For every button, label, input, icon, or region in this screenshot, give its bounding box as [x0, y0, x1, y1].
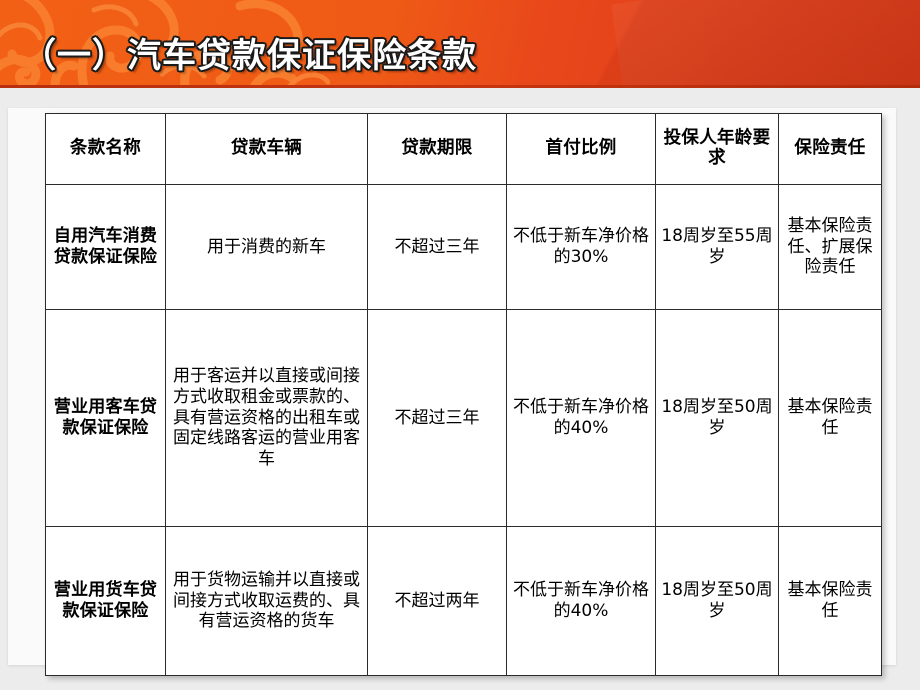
banner-corner-shade [611, 0, 920, 88]
cell-down-payment: 不低于新车净价格的40% [507, 527, 656, 676]
cell-down-payment: 不低于新车净价格的40% [507, 310, 656, 527]
cell-term-name: 自用汽车消费贷款保证保险 [46, 185, 166, 310]
cell-age-requirement: 18周岁至55周岁 [656, 185, 779, 310]
cell-loan-term: 不超过三年 [368, 310, 507, 527]
column-header-age-requirement: 投保人年龄要求 [656, 114, 779, 185]
column-header-vehicle: 贷款车辆 [166, 114, 368, 185]
column-header-term-name: 条款名称 [46, 114, 166, 185]
cell-age-requirement: 18周岁至50周岁 [656, 310, 779, 527]
table-row: 自用汽车消费贷款保证保险 用于消费的新车 不超过三年 不低于新车净价格的30% … [46, 185, 882, 310]
cell-down-payment: 不低于新车净价格的30% [507, 185, 656, 310]
table-row: 营业用客车贷款保证保险 用于客运并以直接或间接方式收取租金或票款的、具有营运资格… [46, 310, 882, 527]
cell-term-name: 营业用货车贷款保证保险 [46, 527, 166, 676]
cell-term-name: 营业用客车贷款保证保险 [46, 310, 166, 527]
cell-liability: 基本保险责任、扩展保险责任 [779, 185, 882, 310]
cell-age-requirement: 18周岁至50周岁 [656, 527, 779, 676]
table-row: 营业用货车贷款保证保险 用于货物运输并以直接或间接方式收取运费的、具有营运资格的… [46, 527, 882, 676]
slide-header-banner: （一）汽车贷款保证保险条款 [0, 0, 920, 88]
slide-canvas: （一）汽车贷款保证保险条款 条款名称 贷款车辆 贷款期限 首付比例 投保人年龄要… [0, 0, 920, 690]
column-header-loan-term: 贷款期限 [368, 114, 507, 185]
column-header-liability: 保险责任 [779, 114, 882, 185]
column-header-down-payment: 首付比例 [507, 114, 656, 185]
cell-vehicle: 用于客运并以直接或间接方式收取租金或票款的、具有营运资格的出租车或固定线路客运的… [166, 310, 368, 527]
auto-loan-guarantee-insurance-table: 条款名称 贷款车辆 贷款期限 首付比例 投保人年龄要求 保险责任 自用汽车消费贷… [45, 113, 882, 676]
cell-loan-term: 不超过两年 [368, 527, 507, 676]
cell-liability: 基本保险责任 [779, 310, 882, 527]
slide-title: （一）汽车贷款保证保险条款 [22, 28, 477, 77]
cell-liability: 基本保险责任 [779, 527, 882, 676]
cell-vehicle: 用于消费的新车 [166, 185, 368, 310]
cell-loan-term: 不超过三年 [368, 185, 507, 310]
cell-vehicle: 用于货物运输并以直接或间接方式收取运费的、具有营运资格的货车 [166, 527, 368, 676]
table-header-row: 条款名称 贷款车辆 贷款期限 首付比例 投保人年龄要求 保险责任 [46, 114, 882, 185]
